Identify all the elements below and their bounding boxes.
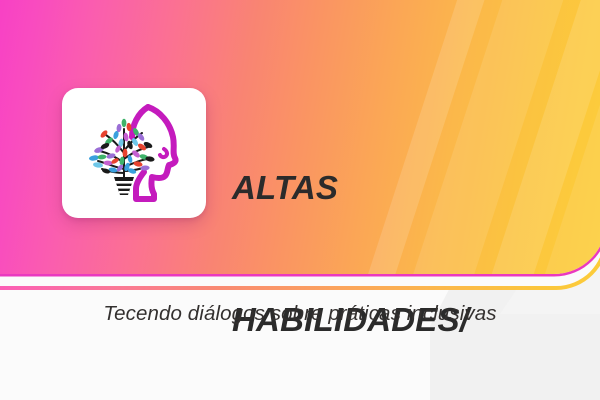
event-banner: ALTAS HABILIDADES/ SUPERDOTAÇÃO: Tecendo… [0, 0, 600, 400]
logo-card [62, 88, 206, 218]
banner-title-line-1: ALTAS [232, 166, 524, 210]
bulb-base [114, 177, 134, 195]
brain-tree-lightbulb-profile-icon [78, 101, 190, 205]
banner-title: ALTAS HABILIDADES/ SUPERDOTAÇÃO: [232, 78, 524, 400]
banner-subtitle: Tecendo diálogos sobre práticas inclusiv… [0, 302, 600, 326]
tree-leaves [89, 119, 155, 175]
